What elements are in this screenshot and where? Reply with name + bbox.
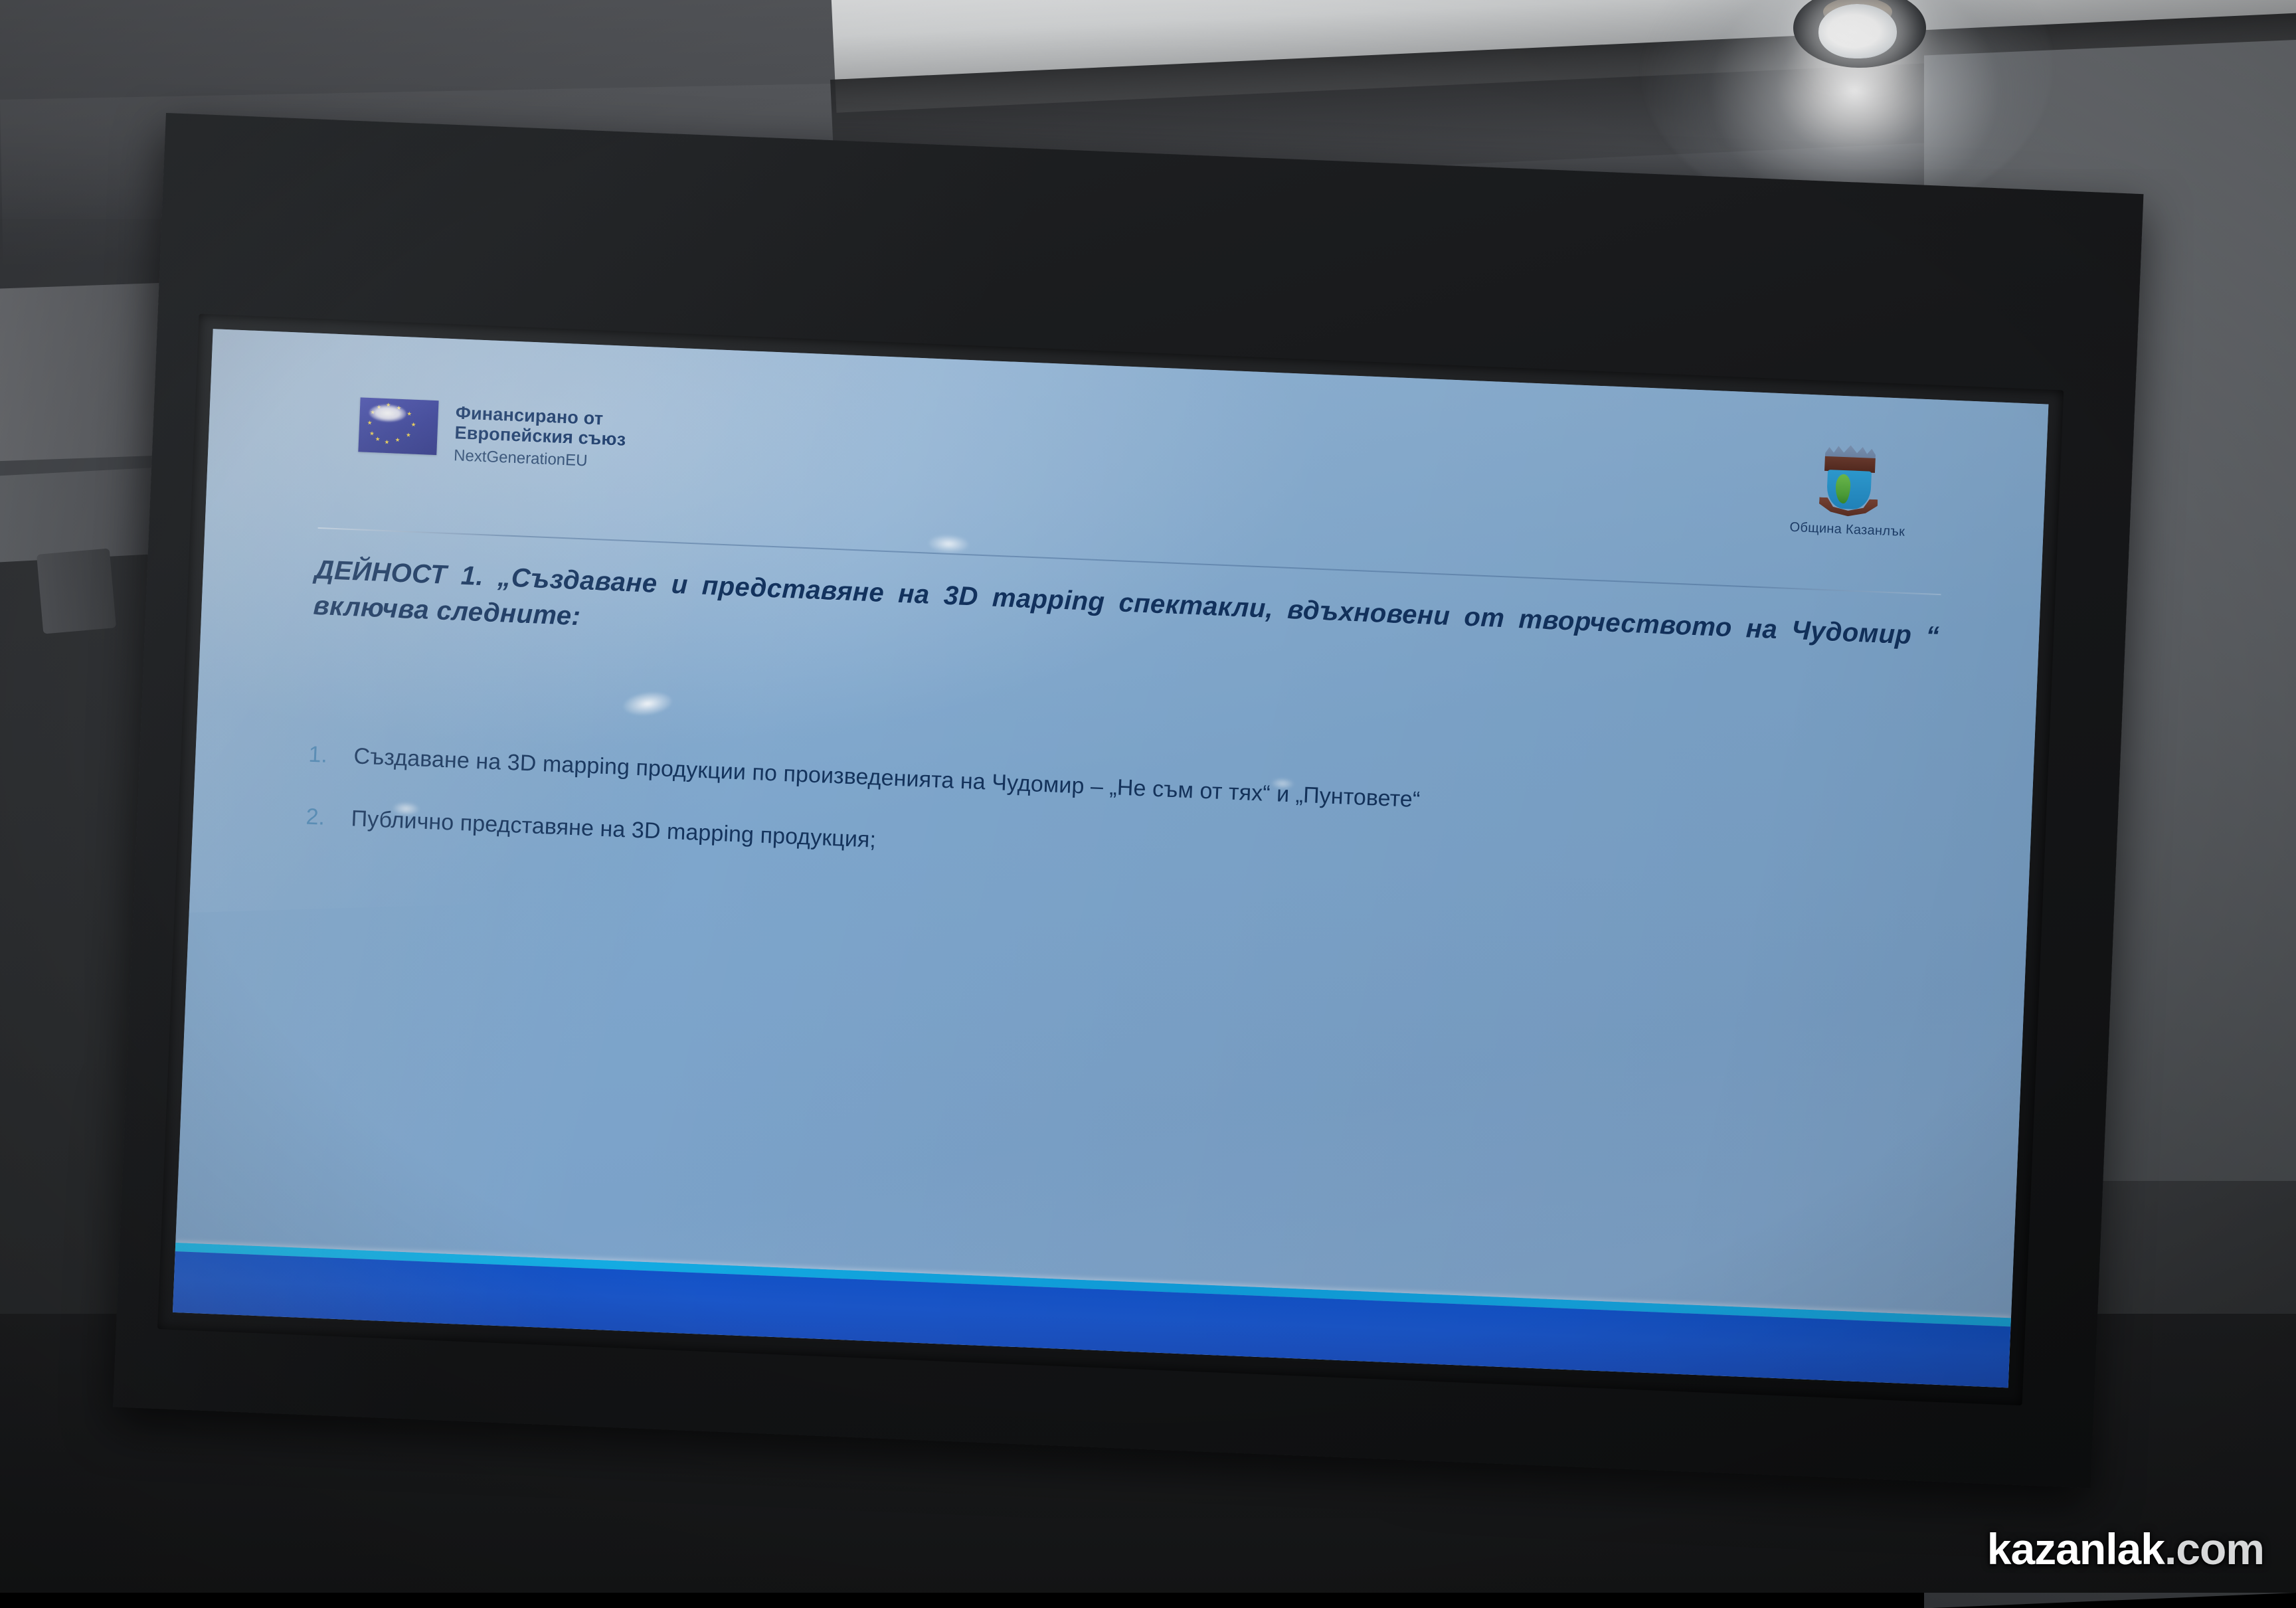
eu-funding-logo: Финансирано от Европейския съюз NextGene… [358, 397, 628, 474]
municipality-logo: Община Казанлък [1771, 442, 1927, 541]
eu-funding-line3: NextGenerationEU [454, 446, 626, 474]
eu-flag-icon [358, 397, 438, 455]
screen-glare-spot [622, 689, 673, 719]
list-item-number: 2. [306, 801, 352, 835]
list-item-text: Публично представяне на 3D mapping проду… [351, 803, 877, 857]
ceiling-light-bulb-icon [1818, 4, 1897, 58]
display-bezel: Финансирано от Европейския съюз NextGene… [157, 313, 2064, 1405]
slide-header: Финансирано от Европейския съюз NextGene… [318, 380, 1947, 586]
presentation-slide: Финансирано от Европейския съюз NextGene… [173, 329, 2048, 1387]
slide-footer-band [173, 1251, 2010, 1387]
air-conditioner-pipe [37, 548, 116, 634]
list-item-text: Създаване на 3D mapping продукции по про… [353, 740, 1421, 816]
watermark-name: kazanlak [1987, 1524, 2164, 1573]
watermark-tld: .com [2164, 1524, 2264, 1573]
activity-list: 1. Създаване на 3D mapping продукции по … [304, 739, 1919, 930]
kazanlak-coat-of-arms-icon [1817, 444, 1881, 519]
eu-logo-text: Финансирано от Европейския съюз NextGene… [454, 401, 628, 474]
display-screen[interactable]: Финансирано от Европейския съюз NextGene… [173, 329, 2048, 1387]
wall-mounted-display-panel[interactable]: Финансирано от Европейския съюз NextGene… [113, 113, 2143, 1488]
municipality-label: Община Казанлък [1771, 519, 1924, 541]
site-watermark: kazanlak.com [1987, 1524, 2264, 1574]
list-item-number: 1. [308, 739, 355, 772]
